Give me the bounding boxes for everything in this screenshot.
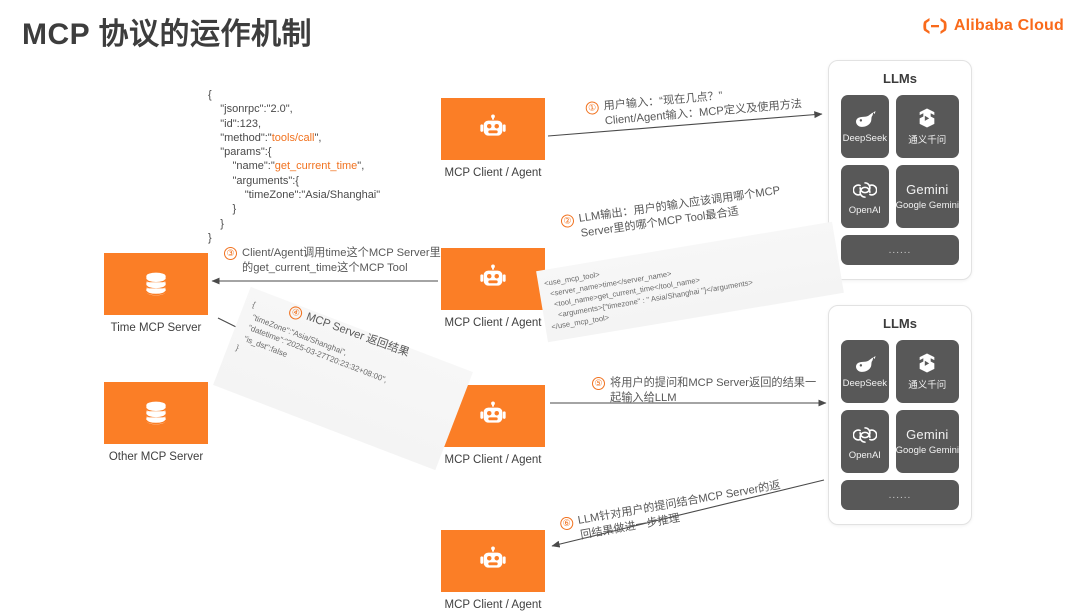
slide-canvas: MCP 协议的运作机制 Alibaba Cloud { "jsonrpc":"2… [0,0,1080,611]
node-label: MCP Client / Agent [441,167,545,179]
llm-panel-title: LLMs [841,316,959,331]
llm-tile-label: 通义千问 [908,377,946,391]
node-time-mcp-server[interactable]: Time MCP Server [104,253,208,334]
server-result-json-code: { "timeZone":"Asia/Shanghai", "datetime"… [213,287,473,470]
deepseek-whale-icon [853,355,877,375]
llm-tile-deepseek[interactable]: DeepSeek [841,340,889,403]
step-text: LLM输出：用户的输入应该调用哪个MCP Server里的哪个MCP Tool最… [578,184,784,243]
llm-panel-top: LLMs DeepSeek 通义千问 [828,60,972,280]
node-mcp-client-bottom[interactable]: MCP Client / Agent [441,530,545,611]
database-icon [142,399,170,427]
openai-knot-icon [853,423,877,447]
llm-tile-label: DeepSeek [843,133,887,144]
llm-panel-bottom: LLMs DeepSeek 通义千问 [828,305,972,525]
openai-knot-icon [853,178,877,202]
llm-tile-label: 通义千问 [908,132,946,146]
llm-tile-grid: DeepSeek 通义千问 OpenAI [841,340,959,473]
step-text: 将用户的提问和MCP Server返回的结果一 起输入给LLM [610,376,816,407]
node-label: MCP Client / Agent [441,599,545,611]
node-label: MCP Client / Agent [441,317,545,329]
node-label: MCP Client / Agent [441,454,545,466]
step-text: LLM针对用户的提问结合MCP Server的返 回结果做进一步推理 [577,478,785,544]
deepseek-whale-icon [853,110,877,130]
llm-tile-label: DeepSeek [843,378,887,389]
node-label: Time MCP Server [104,322,208,334]
gemini-wordmark: Gemini [906,182,948,197]
jsonrpc-request-code: { "jsonrpc":"2.0", "id":123, "method":"t… [208,88,380,245]
node-mcp-client-top[interactable]: MCP Client / Agent [441,98,545,179]
step-annotation-5: ⑤ 将用户的提问和MCP Server返回的结果一 起输入给LLM [592,376,817,407]
robot-icon [478,546,508,576]
step-text: Client/Agent调用time这个MCP Server里 的get_cur… [242,246,441,277]
llm-more-tile[interactable]: ...... [841,480,959,510]
llm-tile-grid: DeepSeek 通义千问 OpenAI [841,95,959,228]
alibaba-cloud-mark-icon [922,17,948,35]
mcp-client-box [441,530,545,592]
robot-icon [478,114,508,144]
llm-tile-deepseek[interactable]: DeepSeek [841,95,889,158]
node-label: Other MCP Server [104,451,208,463]
llm-tile-tongyi[interactable]: 通义千问 [896,95,959,158]
llm-tile-label: OpenAI [849,450,881,461]
robot-icon [478,264,508,294]
step-number: ⑤ [592,377,605,390]
llm-panel-title: LLMs [841,71,959,86]
step-text: 用户输入：“现在几点？” Client/Agent输入：MCP定义及使用方法 [603,82,803,130]
llm-tile-gemini[interactable]: Gemini Google Gemini [896,165,959,228]
llm-tile-tongyi[interactable]: 通义千问 [896,340,959,403]
tongyi-qianwen-icon [915,352,939,374]
mcp-client-box [441,98,545,160]
mcp-client-box [441,248,545,310]
node-other-mcp-server[interactable]: Other MCP Server [104,382,208,463]
llm-tile-openai[interactable]: OpenAI [841,410,889,473]
step-number: ③ [224,247,237,260]
llm-tile-label: Google Gemini [896,445,959,456]
step-annotation-3: ③ Client/Agent调用time这个MCP Server里 的get_c… [224,246,452,277]
node-mcp-client-mid[interactable]: MCP Client / Agent [441,248,545,329]
llm-tile-label: Google Gemini [896,200,959,211]
step-annotation-6: ⑥ LLM针对用户的提问结合MCP Server的返 回结果做进一步推理 [559,477,791,547]
step-number: ④ [287,305,304,322]
brand-name: Alibaba Cloud [954,17,1064,35]
step-number: ⑥ [559,516,574,531]
mcp-server-box [104,382,208,444]
llm-more-tile[interactable]: ...... [841,235,959,265]
step-annotation-1: ① 用户输入：“现在几点？” Client/Agent输入：MCP定义及使用方法 [585,81,817,132]
mcp-server-box [104,253,208,315]
llm-tile-openai[interactable]: OpenAI [841,165,889,228]
database-icon [142,270,170,298]
robot-icon [478,401,508,431]
llm-tile-gemini[interactable]: Gemini Google Gemini [896,410,959,473]
page-title: MCP 协议的运作机制 [22,9,312,53]
gemini-wordmark: Gemini [906,427,948,442]
brand-logo: Alibaba Cloud [922,17,1064,35]
step-number: ② [560,214,575,229]
step-number: ① [585,101,599,115]
llm-tile-label: OpenAI [849,205,881,216]
tongyi-qianwen-icon [915,107,939,129]
